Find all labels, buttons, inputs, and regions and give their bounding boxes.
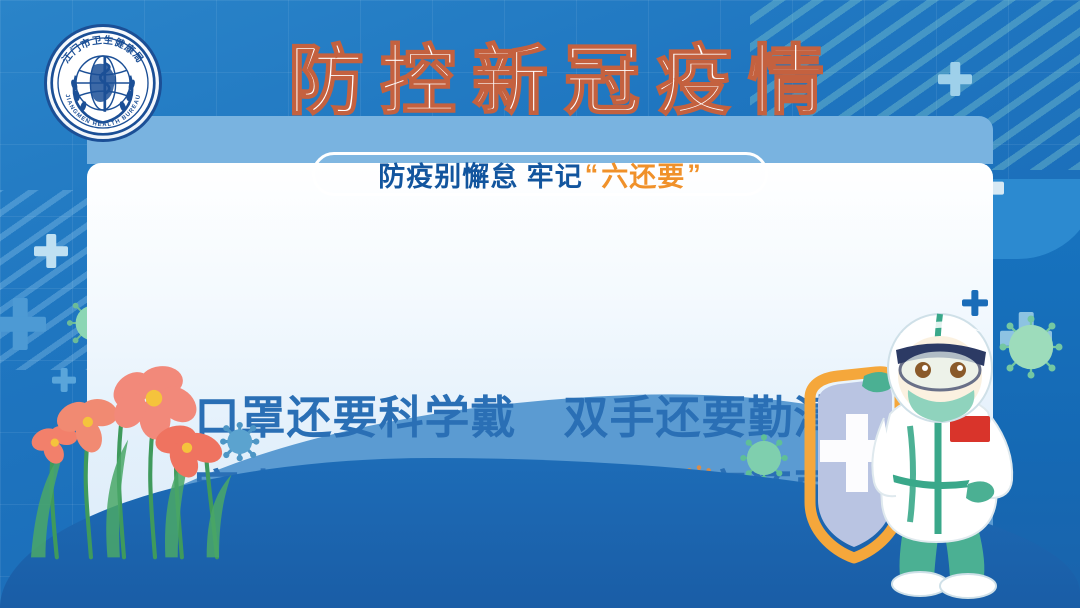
- poster-canvas: 口罩还要科学戴 双手还要勤清洗 室内还要常通风 社交距离还要留 场所规定还要守 …: [0, 0, 1080, 608]
- subtitle-quote-close: ”: [687, 159, 702, 190]
- title-char-1: 防: [282, 40, 370, 124]
- title-char-3: 新: [466, 40, 554, 124]
- virus-blue-flowers-icon: [220, 422, 259, 461]
- subtitle-quote-open: “: [585, 159, 600, 190]
- title-char-2: 控: [374, 40, 462, 124]
- title-char-4: 冠: [558, 40, 646, 124]
- title-char-6: 情: [742, 40, 830, 124]
- poster-title: 防 控 新 冠 疫 情: [236, 34, 876, 130]
- flower-medium-left: [52, 396, 120, 456]
- title-char-5: 疫: [650, 40, 738, 124]
- subtitle-prefix: 防疫别懈怠 牢记: [378, 155, 583, 194]
- cross-left-upper-icon: [34, 234, 68, 268]
- cross-top-right-icon: [938, 62, 972, 96]
- subtitle-pill: 防疫别懈怠 牢记 “ 六还要 ”: [312, 152, 768, 196]
- flowers-illustration: [0, 344, 310, 564]
- medical-worker-mascot: [772, 306, 1072, 606]
- subtitle-highlight: 六还要: [601, 155, 685, 194]
- health-bureau-emblem-icon: 江门市卫生健康局 JIANGMEN HEALTH BUREAU: [49, 29, 157, 137]
- organization-logo: 江门市卫生健康局 JIANGMEN HEALTH BUREAU: [44, 24, 162, 142]
- mascot-head: [888, 314, 992, 422]
- cross-left-lower-icon: [0, 298, 46, 350]
